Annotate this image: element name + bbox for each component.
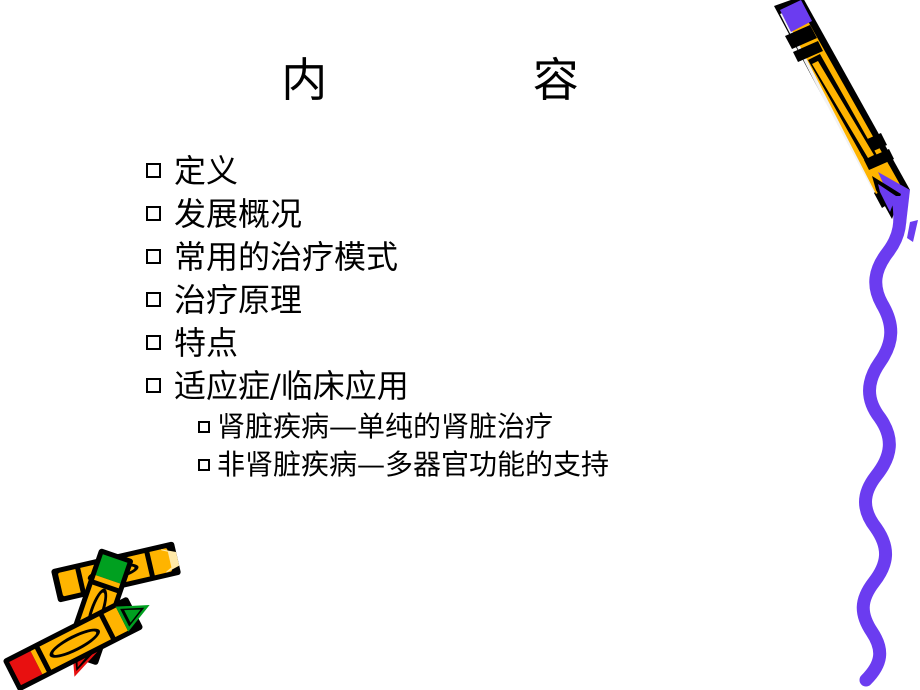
presentation-slide: 内 容 定义 发展概况 常用的治疗模式 治疗原理 特点 适应症/临床应用 bbox=[0, 0, 920, 690]
crossed-crayons-icon bbox=[0, 528, 186, 690]
list-item: 定义 bbox=[146, 150, 806, 193]
list-item-label: 常用的治疗模式 bbox=[174, 236, 398, 279]
list-item-label: 治疗原理 bbox=[174, 279, 302, 322]
purple-squiggle-line-icon bbox=[836, 196, 920, 690]
list-item: 常用的治疗模式 bbox=[146, 236, 806, 279]
list-item: 治疗原理 bbox=[146, 279, 806, 322]
list-item: 特点 bbox=[146, 322, 806, 365]
list-item: 发展概况 bbox=[146, 193, 806, 236]
list-item: 适应症/临床应用 bbox=[146, 365, 806, 408]
list-item-label: 特点 bbox=[174, 322, 238, 365]
hollow-square-sub-bullet-icon bbox=[198, 459, 210, 471]
hollow-square-bullet-icon bbox=[146, 378, 161, 393]
sub-list-item: 肾脏疾病—单纯的肾脏治疗 bbox=[198, 408, 806, 446]
hollow-square-bullet-icon bbox=[146, 206, 161, 221]
hollow-square-sub-bullet-icon bbox=[198, 421, 210, 433]
sub-list-item-label: 肾脏疾病—单纯的肾脏治疗 bbox=[217, 408, 553, 446]
sub-list-item-label: 非肾脏疾病—多器官功能的支持 bbox=[217, 446, 609, 484]
list-item-label: 发展概况 bbox=[174, 193, 302, 236]
content-bullet-list: 定义 发展概况 常用的治疗模式 治疗原理 特点 适应症/临床应用 肾脏疾病—单纯… bbox=[146, 150, 806, 484]
sub-bullet-list: 肾脏疾病—单纯的肾脏治疗 非肾脏疾病—多器官功能的支持 bbox=[198, 408, 806, 484]
hollow-square-bullet-icon bbox=[146, 292, 161, 307]
list-item-label: 适应症/临床应用 bbox=[174, 365, 409, 408]
slide-title: 内 容 bbox=[0, 52, 860, 108]
hollow-square-bullet-icon bbox=[146, 249, 161, 264]
list-item-label: 定义 bbox=[174, 150, 238, 193]
hollow-square-bullet-icon bbox=[146, 163, 161, 178]
sub-list-item: 非肾脏疾病—多器官功能的支持 bbox=[198, 446, 806, 484]
hollow-square-bullet-icon bbox=[146, 335, 161, 350]
